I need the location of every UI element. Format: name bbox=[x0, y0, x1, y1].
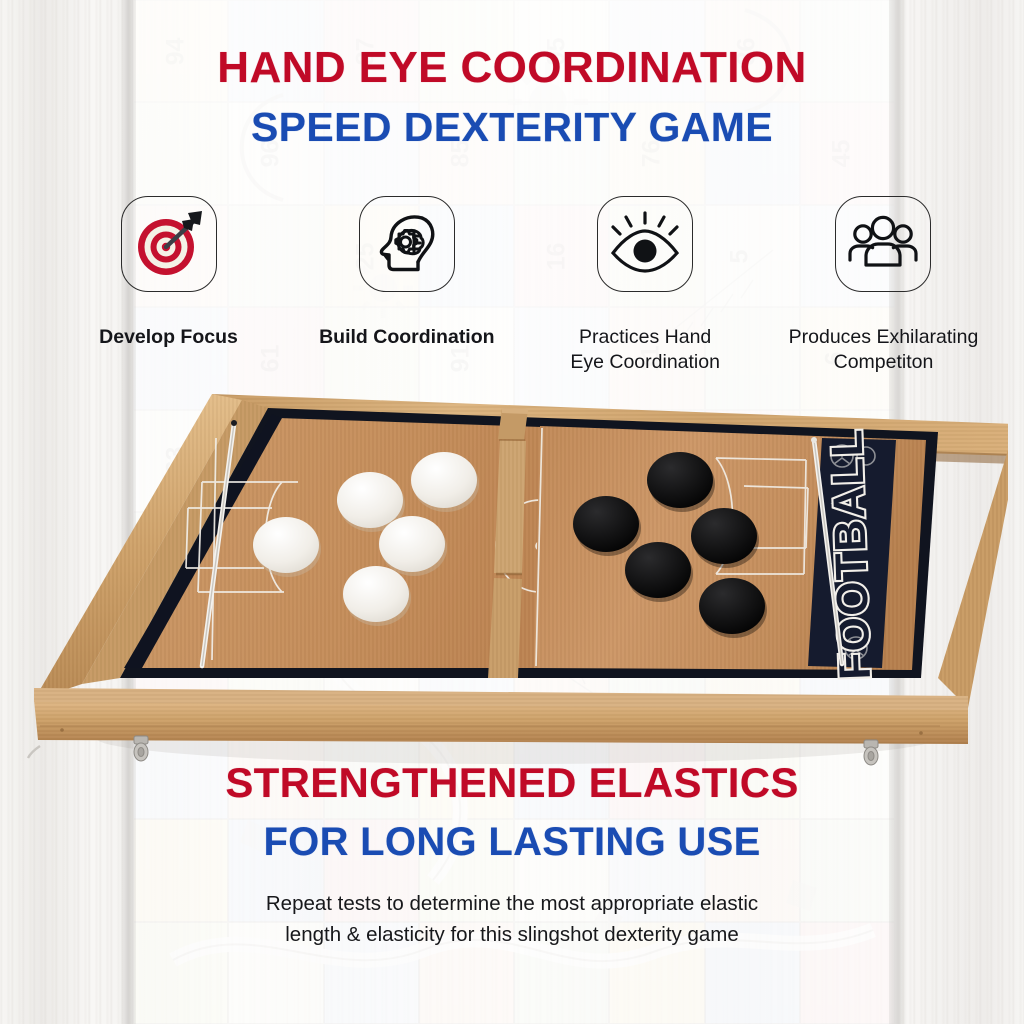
feature-produces-competition: Produces Exhilarating Competiton bbox=[771, 196, 996, 374]
bottom-line-1: STRENGTHENED ELASTICS bbox=[0, 762, 1024, 804]
elastic-hook-left bbox=[134, 736, 148, 761]
feature-develop-focus: Develop Focus bbox=[56, 196, 281, 350]
feature-practices-hand-eye: Practices Hand Eye Coordination bbox=[533, 196, 758, 374]
board-brand-text: FOOTBALL bbox=[822, 428, 880, 681]
poster-canvas: 9487958696857645362516561911166399 bbox=[0, 0, 1024, 1024]
eye-icon bbox=[597, 196, 693, 292]
headline-line-2: SPEED DEXTERITY GAME bbox=[0, 107, 1024, 148]
headline-block: HAND EYE COORDINATION SPEED DEXTERITY GA… bbox=[0, 46, 1024, 148]
bottom-subtext: Repeat tests to determine the most appro… bbox=[0, 888, 1024, 950]
feature-label: Build Coordination bbox=[319, 325, 494, 350]
headline-line-1: HAND EYE COORDINATION bbox=[0, 46, 1024, 90]
feature-label: Produces Exhilarating Competiton bbox=[789, 325, 979, 374]
bottom-text-block: STRENGTHENED ELASTICS FOR LONG LASTING U… bbox=[0, 762, 1024, 950]
feature-label: Practices Hand Eye Coordination bbox=[570, 325, 720, 374]
feature-build-coordination: Build Coordination bbox=[294, 196, 519, 350]
brain-head-gear-icon bbox=[359, 196, 455, 292]
people-group-icon bbox=[835, 196, 931, 292]
bottom-line-2: FOR LONG LASTING USE bbox=[0, 822, 1024, 862]
target-dart-icon bbox=[121, 196, 217, 292]
feature-label: Develop Focus bbox=[99, 325, 238, 350]
feature-icons-row: Develop Focus bbox=[56, 196, 996, 386]
product-photo-slingshot-board: FOOTBALL bbox=[16, 378, 1008, 778]
